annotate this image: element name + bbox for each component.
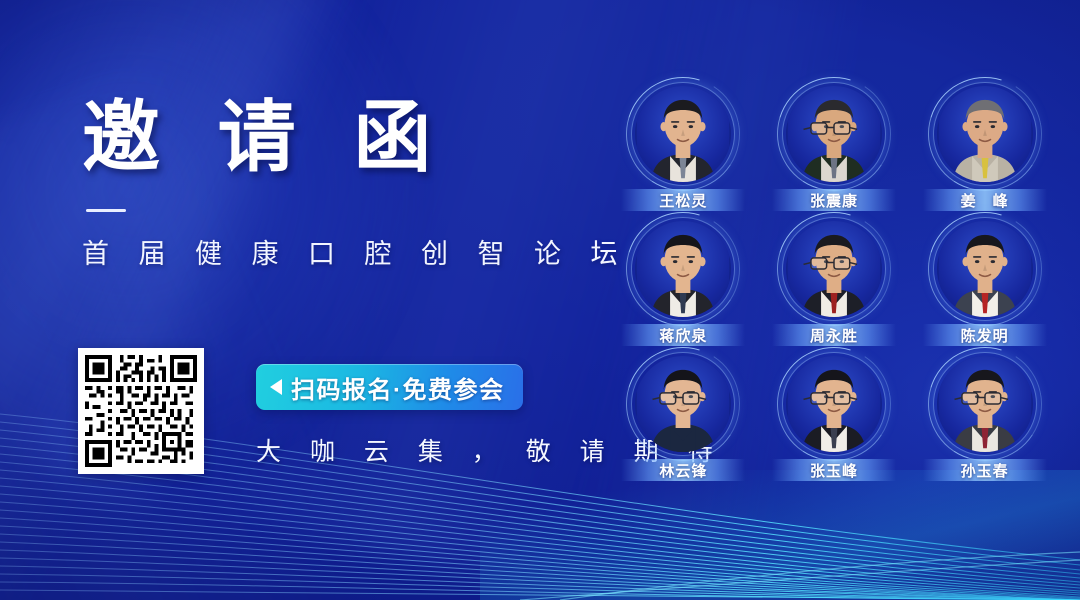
avatar — [631, 82, 735, 186]
speaker-name: 孙玉春 — [961, 460, 1009, 481]
speaker-card[interactable]: 张震康 — [759, 80, 910, 215]
speaker-name: 张玉峰 — [810, 460, 858, 481]
headline-block: 邀 请 函 首 届 健 康 口 腔 创 智 论 坛 — [82, 96, 602, 271]
invitation-poster: 邀 请 函 首 届 健 康 口 腔 创 智 论 坛 — [0, 0, 1080, 600]
speaker-grid: 王松灵 — [608, 80, 1060, 485]
qr-code[interactable] — [78, 348, 204, 474]
speaker-card[interactable]: 姜 峰 — [909, 80, 1060, 215]
page-title: 邀 请 函 — [82, 96, 602, 179]
status-badge: 姜 峰 — [923, 189, 1047, 211]
left-arrow-icon — [270, 379, 282, 395]
scan-register-button[interactable]: 扫码报名·免费参会 — [256, 364, 523, 410]
avatar-photo — [937, 86, 1033, 182]
status-badge: 孙玉春 — [923, 459, 1047, 481]
qr-code-icon — [85, 355, 197, 467]
title-divider — [86, 209, 126, 212]
status-badge: 陈发明 — [923, 324, 1047, 346]
registration-block: 扫码报名·免费参会 大 咖 云 集 ， 敬 请 期 待 — [78, 348, 598, 488]
status-badge: 王松灵 — [621, 189, 745, 211]
speaker-card[interactable]: 陈发明 — [909, 215, 1060, 350]
avatar-photo — [786, 356, 882, 452]
status-badge: 林云锋 — [621, 459, 745, 481]
event-subtitle: 首 届 健 康 口 腔 创 智 论 坛 — [82, 232, 602, 271]
speaker-card[interactable]: 林云锋 — [608, 350, 759, 485]
speaker-card[interactable]: 蒋欣泉 — [608, 215, 759, 350]
avatar — [782, 352, 886, 456]
cta-column: 扫码报名·免费参会 大 咖 云 集 ， 敬 请 期 待 — [236, 348, 616, 468]
avatar — [631, 352, 735, 456]
avatar — [782, 217, 886, 321]
scan-register-label: 扫码报名·免费参会 — [291, 370, 505, 405]
avatar-photo — [937, 221, 1033, 317]
avatar-photo — [937, 356, 1033, 452]
avatar-photo — [786, 86, 882, 182]
status-badge: 周永胜 — [772, 324, 896, 346]
speaker-card[interactable]: 孙玉春 — [909, 350, 1060, 485]
speaker-card[interactable]: 张玉峰 — [759, 350, 910, 485]
status-badge: 蒋欣泉 — [621, 324, 745, 346]
speaker-card[interactable]: 周永胜 — [759, 215, 910, 350]
speaker-name: 陈发明 — [961, 325, 1009, 346]
speaker-name: 张震康 — [810, 190, 858, 211]
avatar — [631, 217, 735, 321]
speaker-card[interactable]: 王松灵 — [608, 80, 759, 215]
avatar-photo — [635, 221, 731, 317]
event-tagline: 大 咖 云 集 ， 敬 请 期 待 — [256, 432, 616, 468]
avatar-photo — [635, 356, 731, 452]
avatar-photo — [635, 86, 731, 182]
speaker-name: 林云锋 — [659, 460, 707, 481]
speaker-name: 蒋欣泉 — [659, 325, 707, 346]
avatar — [933, 352, 1037, 456]
status-badge: 张玉峰 — [772, 459, 896, 481]
avatar — [933, 82, 1037, 186]
avatar — [933, 217, 1037, 321]
speaker-name: 姜 峰 — [961, 190, 1009, 211]
status-badge: 张震康 — [772, 189, 896, 211]
speaker-name: 王松灵 — [659, 190, 707, 211]
avatar — [782, 82, 886, 186]
avatar-photo — [786, 221, 882, 317]
speaker-name: 周永胜 — [810, 325, 858, 346]
